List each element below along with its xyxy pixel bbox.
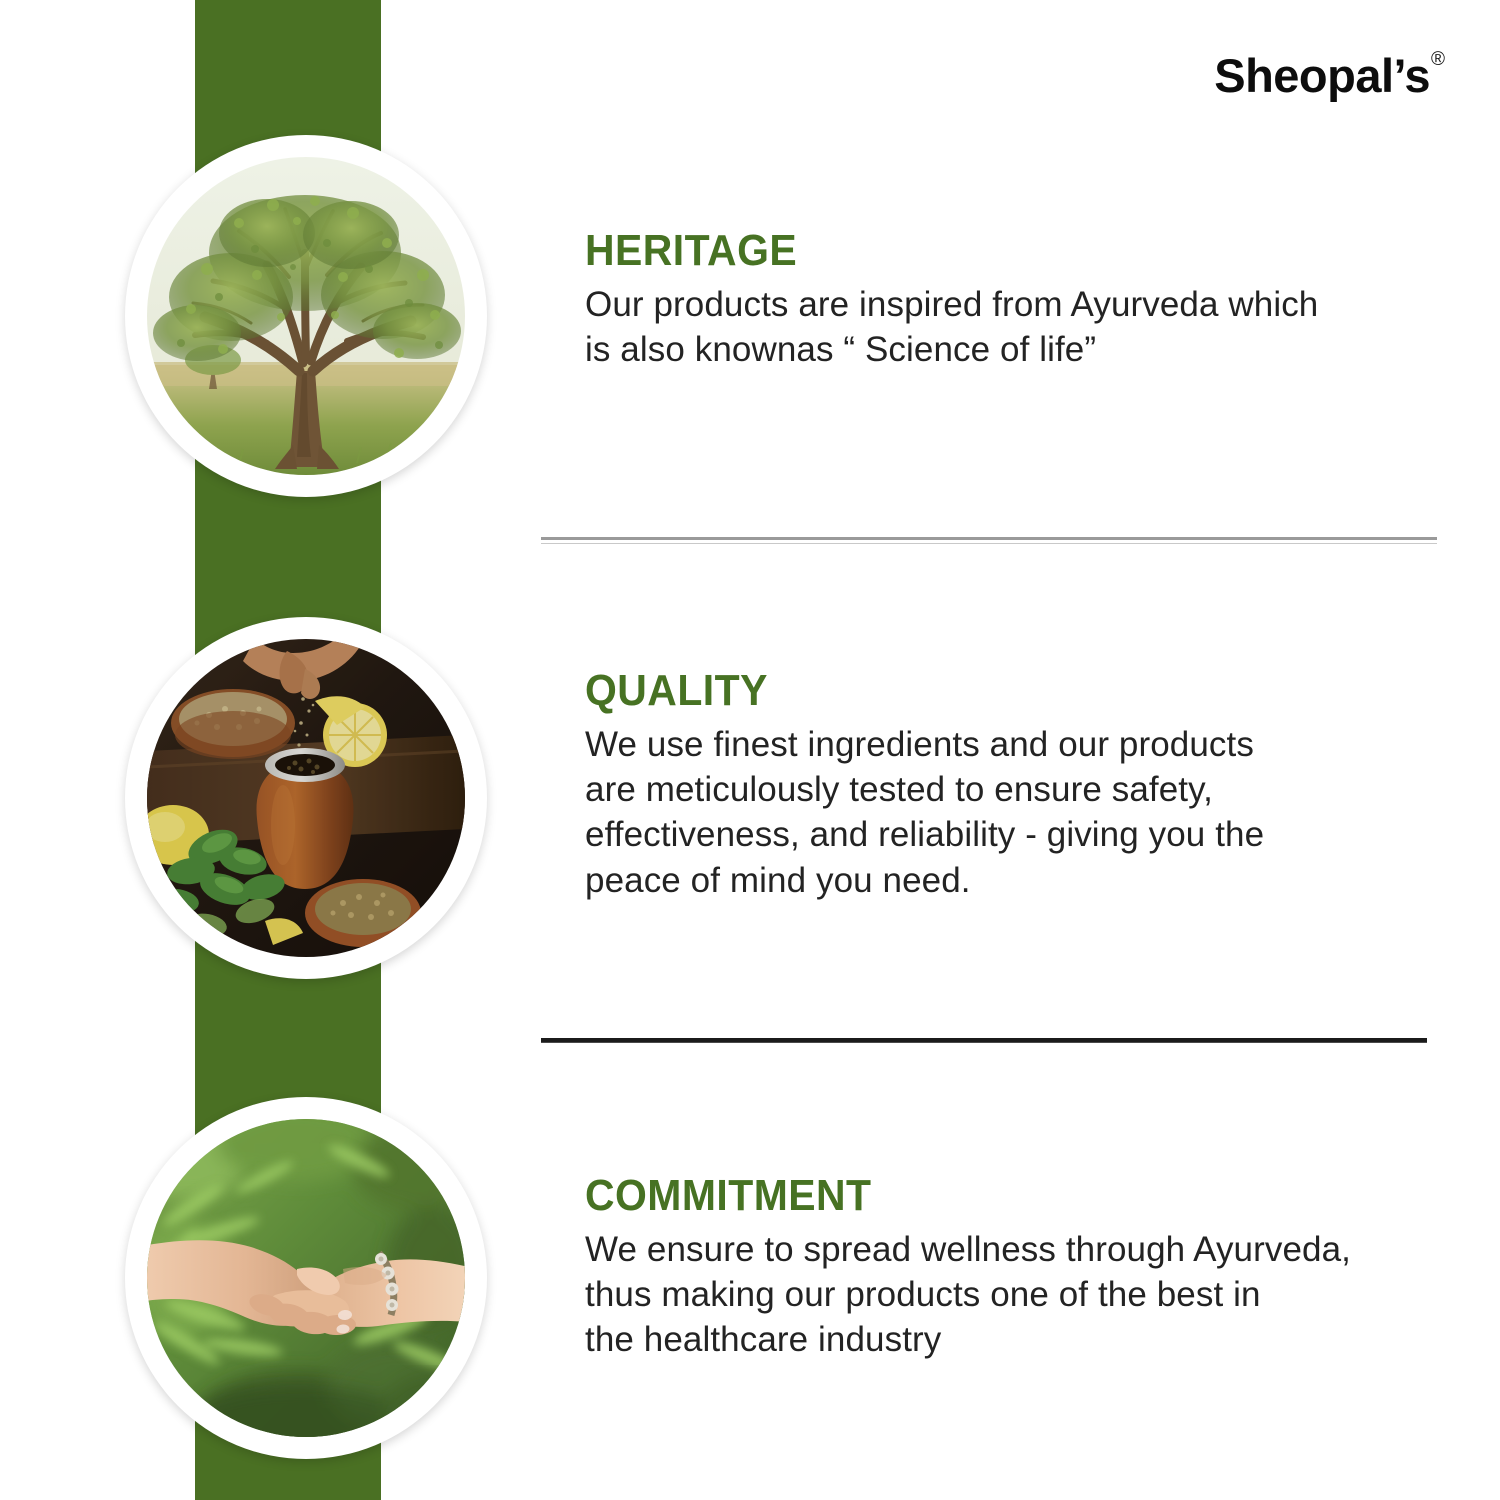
ancient-tree-photo [147, 157, 465, 475]
commitment-heading: COMMITMENT [585, 1173, 1394, 1219]
herbs-mortar-photo [147, 639, 465, 957]
heritage-section: HERITAGE Our products are inspired from … [585, 228, 1455, 372]
commitment-section: COMMITMENT We ensure to spread wellness … [585, 1173, 1455, 1363]
commitment-body: We ensure to spread wellness through Ayu… [585, 1227, 1455, 1362]
handshake-photo [147, 1119, 465, 1437]
content-column: HERITAGE Our products are inspired from … [585, 0, 1465, 1500]
heritage-body: Our products are inspired from Ayurveda … [585, 282, 1455, 372]
quality-section: QUALITY We use finest ingredients and ou… [585, 668, 1455, 903]
quality-heading: QUALITY [585, 668, 1394, 714]
quality-image-ring [125, 617, 487, 979]
commitment-image-ring [125, 1097, 487, 1459]
heritage-image-ring [125, 135, 487, 497]
heritage-heading: HERITAGE [585, 228, 1394, 274]
quality-body: We use finest ingredients and our produc… [585, 722, 1455, 903]
